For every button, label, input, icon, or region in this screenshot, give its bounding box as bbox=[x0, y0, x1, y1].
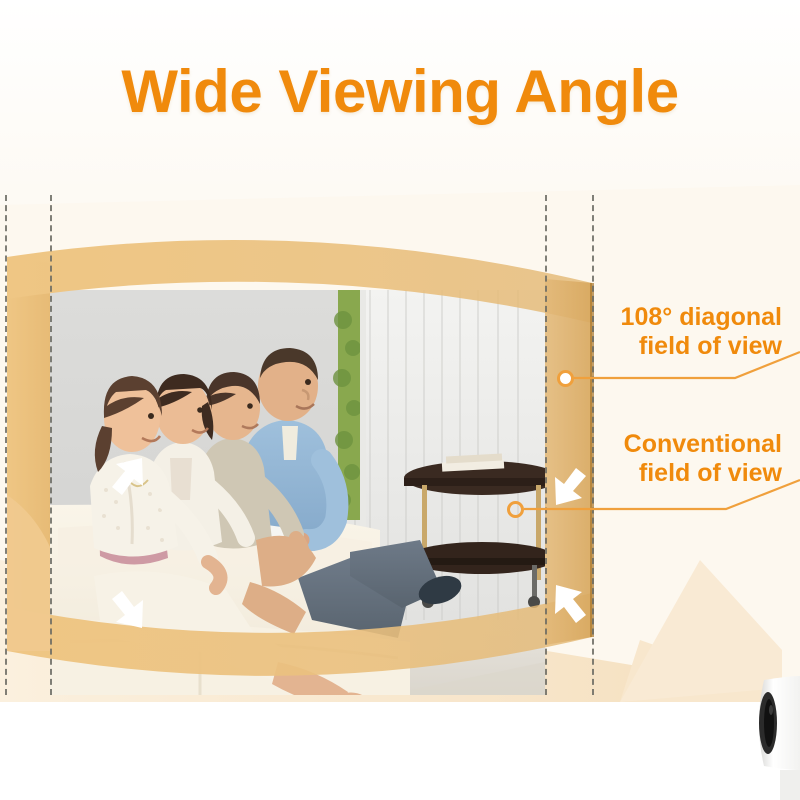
promo-graphic: Wide Viewing Angle bbox=[0, 0, 800, 800]
marker-wide-fov[interactable] bbox=[557, 370, 574, 387]
callout-wide-line1: 108° diagonal bbox=[621, 303, 782, 332]
callout-leader-lines bbox=[0, 0, 800, 800]
callout-conventional-fov: Conventional field of view bbox=[624, 430, 782, 488]
callout-conventional-line2: field of view bbox=[624, 459, 782, 488]
marker-conventional-fov[interactable] bbox=[507, 501, 524, 518]
callout-conventional-line1: Conventional bbox=[624, 430, 782, 459]
callout-wide-line2: field of view bbox=[621, 332, 782, 361]
callout-wide-fov: 108° diagonal field of view bbox=[621, 303, 782, 361]
wide-angle-camera bbox=[730, 650, 800, 800]
